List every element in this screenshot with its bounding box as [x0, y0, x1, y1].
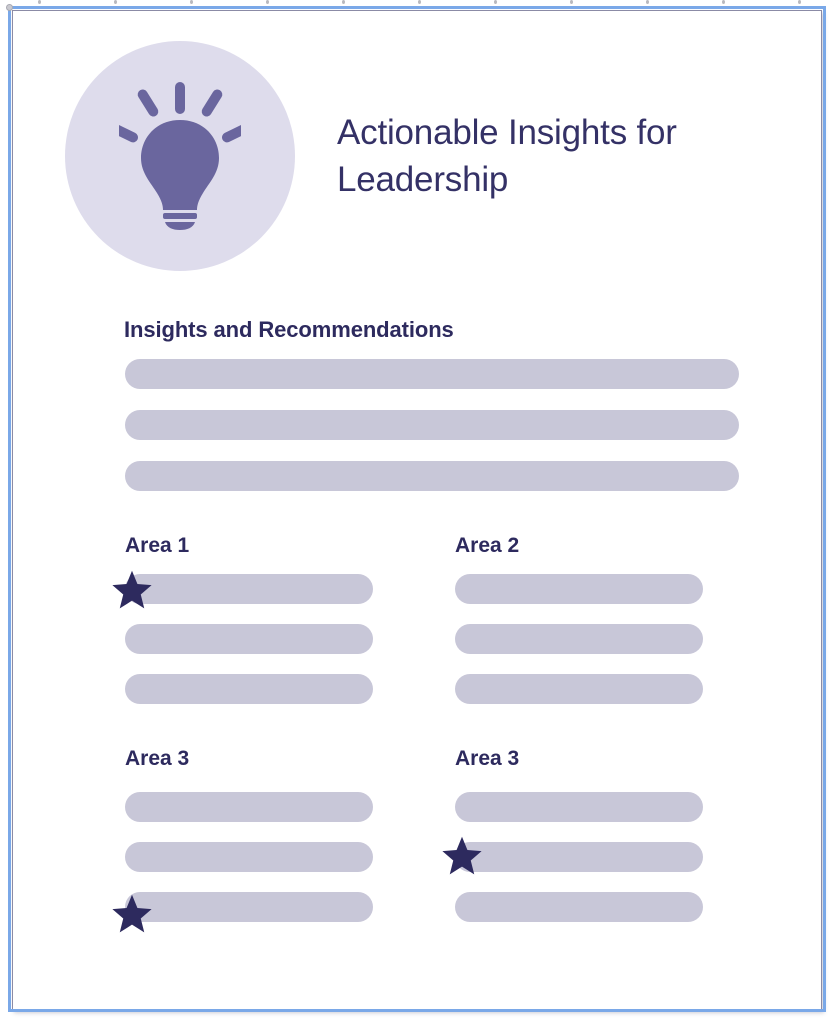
ruler-tick	[494, 0, 497, 4]
area-1-placeholder-bar[interactable]	[125, 574, 373, 604]
star-icon[interactable]	[111, 893, 153, 935]
area-1-placeholder-bar[interactable]	[125, 624, 373, 654]
area-1-placeholder-bar[interactable]	[125, 674, 373, 704]
area-3-left-placeholder-bar[interactable]	[125, 892, 373, 922]
area-heading-area-2: Area 2	[455, 534, 519, 558]
area-heading-area-3-left: Area 3	[125, 747, 189, 771]
lightbulb-icon	[119, 82, 241, 230]
area-3-right-placeholder-bar[interactable]	[455, 842, 703, 872]
ruler-tick	[266, 0, 269, 4]
ruler-tick	[190, 0, 193, 4]
star-icon[interactable]	[441, 835, 483, 877]
area-2-placeholder-bar[interactable]	[455, 624, 703, 654]
ruler-tick	[570, 0, 573, 4]
slide-header: Actionable Insights for Leadership	[65, 41, 765, 271]
area-heading-area-1: Area 1	[125, 534, 189, 558]
ruler-tick	[114, 0, 117, 4]
ruler-tick	[418, 0, 421, 4]
ruler-tick	[722, 0, 725, 4]
insights-placeholder-bar[interactable]	[125, 359, 739, 389]
star-icon[interactable]	[111, 569, 153, 611]
area-3-left-placeholder-bar[interactable]	[125, 792, 373, 822]
page-title: Actionable Insights for Leadership	[337, 109, 767, 204]
area-3-right-placeholder-bar[interactable]	[455, 892, 703, 922]
lightbulb-badge	[65, 41, 295, 271]
area-3-left-placeholder-bar[interactable]	[125, 842, 373, 872]
ruler-tick	[646, 0, 649, 4]
insights-section-heading: Insights and Recommendations	[124, 317, 454, 343]
slide-page[interactable]: Actionable Insights for Leadership Insig…	[12, 10, 822, 1010]
area-3-right-placeholder-bar[interactable]	[455, 792, 703, 822]
area-2-placeholder-bar[interactable]	[455, 674, 703, 704]
area-2-placeholder-bar[interactable]	[455, 574, 703, 604]
area-heading-area-3-right: Area 3	[455, 747, 519, 771]
ruler-tick	[38, 0, 41, 4]
insights-placeholder-bar[interactable]	[125, 461, 739, 491]
ruler-tick	[342, 0, 345, 4]
slide-editor-canvas: Actionable Insights for Leadership Insig…	[0, 0, 836, 1024]
ruler-strip	[0, 0, 836, 6]
ruler-tick	[798, 0, 801, 4]
insights-placeholder-bar[interactable]	[125, 410, 739, 440]
